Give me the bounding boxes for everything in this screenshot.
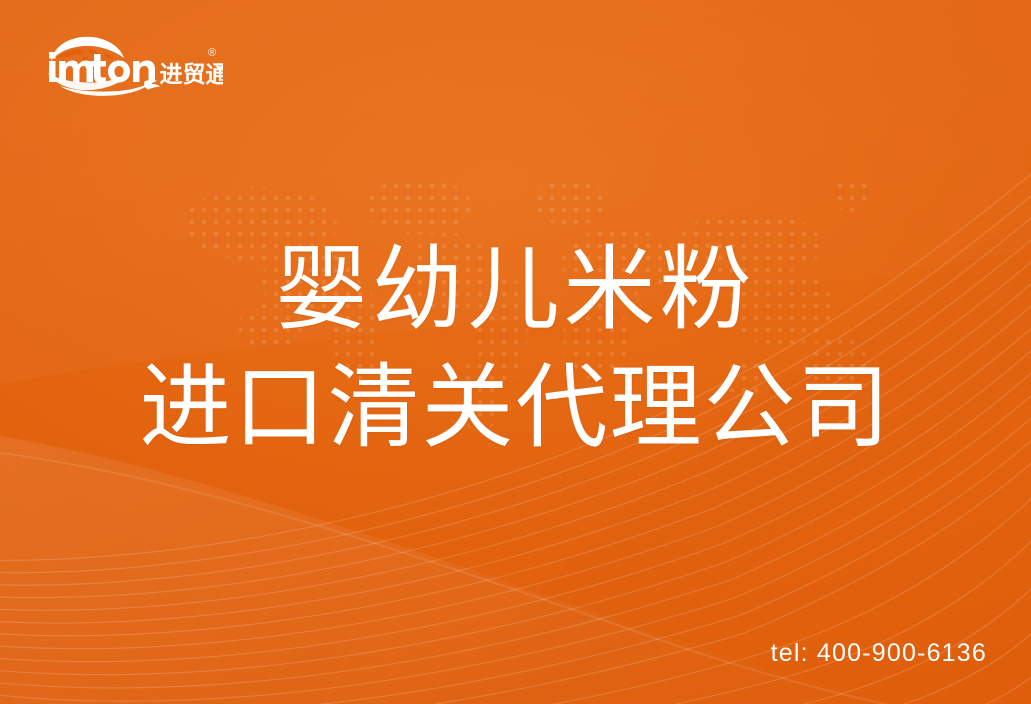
promo-banner: 进贸通 ® 婴幼儿米粉 进口清关代理公司 tel: 400-900-6136 [0,0,1031,704]
contact-telephone[interactable]: tel: 400-900-6136 [771,639,987,668]
brand-logo[interactable]: 进贸通 ® [38,30,223,100]
headline-line-2: 进口清关代理公司 [0,350,1031,468]
registered-mark-icon: ® [208,47,216,59]
headline-line-1: 婴幼儿米粉 [0,232,1031,350]
logo-chinese-name: 进贸通 [160,62,224,88]
headline: 婴幼儿米粉 进口清关代理公司 [0,232,1031,468]
